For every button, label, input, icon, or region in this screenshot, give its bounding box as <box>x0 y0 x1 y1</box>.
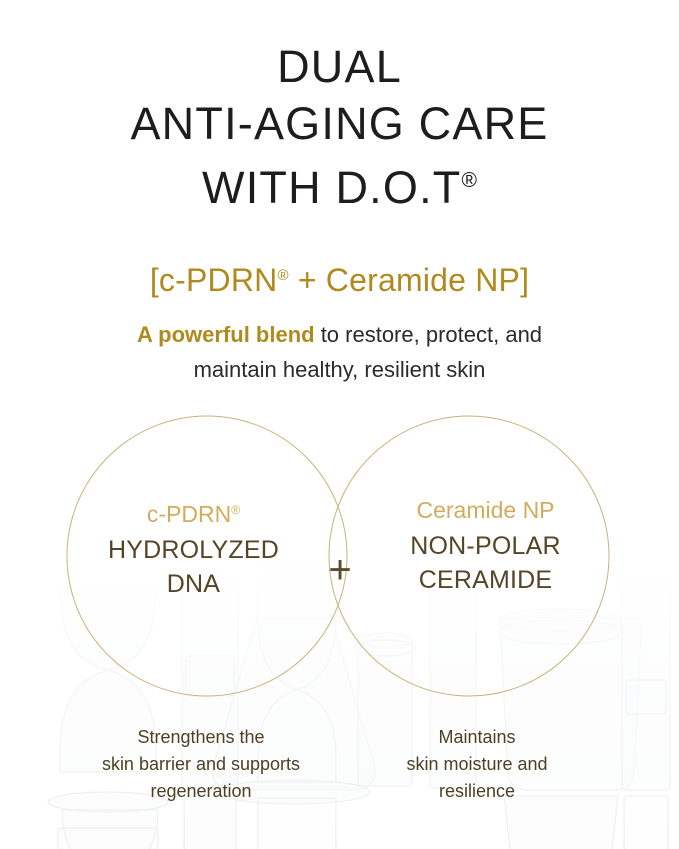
venn-right-ingredient-name: Ceramide NP <box>358 495 613 525</box>
benefit-right-line-2: skin moisture and <box>352 751 602 778</box>
bracket-open-text: [c-PDRN <box>150 262 278 298</box>
blend-rest-text: to restore, protect, and <box>315 322 542 347</box>
title-line-3-text: WITH D.O.T <box>202 162 461 213</box>
infographic-page: DUAL ANTI-AGING CARE WITH D.O.T® [c-PDRN… <box>0 0 679 849</box>
title-line-1: DUAL <box>0 38 679 95</box>
venn-left-ingredient-name: c-PDRN® <box>66 495 321 529</box>
registered-trademark-icon: ® <box>231 503 240 517</box>
plus-icon: + <box>320 550 360 590</box>
venn-left-desc-line-2: DNA <box>66 567 321 601</box>
blend-description: A powerful blend to restore, protect, an… <box>0 317 679 387</box>
title-line-3: WITH D.O.T® <box>0 152 679 216</box>
venn-left-description: HYDROLYZED DNA <box>66 533 321 601</box>
benefit-left: Strengthens the skin barrier and support… <box>56 724 346 805</box>
venn-left-desc-line-1: HYDROLYZED <box>66 533 321 567</box>
title-line-2: ANTI-AGING CARE <box>0 95 679 152</box>
benefit-left-line-3: regeneration <box>56 778 346 805</box>
venn-left-content: c-PDRN® HYDROLYZED DNA <box>66 495 321 601</box>
ingredient-pair-heading: [c-PDRN® + Ceramide NP] <box>0 255 679 301</box>
benefit-right-line-1: Maintains <box>352 724 602 751</box>
venn-right-content: Ceramide NP NON-POLAR CERAMIDE <box>358 495 613 597</box>
blend-description-line-1: A powerful blend to restore, protect, an… <box>0 317 679 352</box>
venn-diagram: c-PDRN® HYDROLYZED DNA + Ceramide NP NON… <box>0 410 679 705</box>
blend-description-line-2: maintain healthy, resilient skin <box>0 352 679 387</box>
bracket-rest-text: + Ceramide NP] <box>289 262 529 298</box>
benefit-left-line-1: Strengthens the <box>56 724 346 751</box>
venn-right-description: NON-POLAR CERAMIDE <box>358 529 613 597</box>
benefit-right-line-3: resilience <box>352 778 602 805</box>
page-title: DUAL ANTI-AGING CARE WITH D.O.T® <box>0 38 679 216</box>
registered-trademark-icon: ® <box>461 169 476 192</box>
venn-right-desc-line-1: NON-POLAR <box>358 529 613 563</box>
venn-left-name-text: c-PDRN <box>147 501 231 527</box>
benefit-left-line-2: skin barrier and supports <box>56 751 346 778</box>
benefit-captions: Strengthens the skin barrier and support… <box>0 724 679 824</box>
registered-trademark-icon: ® <box>277 267 288 284</box>
blend-highlight-text: A powerful blend <box>137 322 315 347</box>
benefit-right: Maintains skin moisture and resilience <box>352 724 602 805</box>
venn-right-desc-line-2: CERAMIDE <box>358 563 613 597</box>
